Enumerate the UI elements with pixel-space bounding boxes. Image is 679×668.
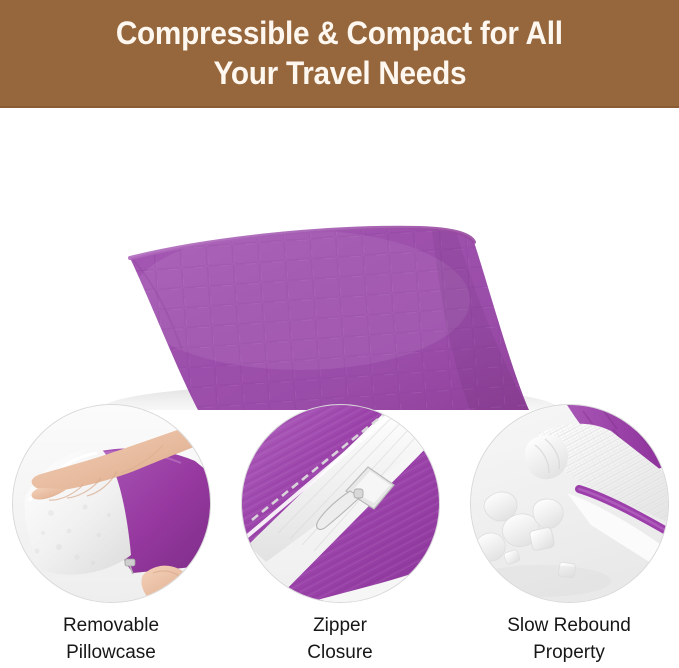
foam-tuft xyxy=(525,435,568,479)
lower-hand xyxy=(141,566,201,601)
feature-row: Removable Pillowcase xyxy=(0,404,679,668)
feature-caption-zipper-closure: Zipper Closure xyxy=(240,612,440,666)
feature-slow-rebound-property: Slow Rebound Property xyxy=(469,404,669,666)
feature-image-zipper-closure xyxy=(241,404,440,603)
banner-headline-line-1: Compressible & Compact for All xyxy=(116,13,563,53)
hero-product-image xyxy=(0,110,679,410)
banner-headline-line-2: Your Travel Needs xyxy=(213,53,466,93)
pillow-illustration xyxy=(0,110,679,410)
header-banner: Compressible & Compact for All Your Trav… xyxy=(0,0,679,108)
feature-zipper-closure: Zipper Closure xyxy=(240,404,440,666)
feature-caption-removable-pillowcase: Removable Pillowcase xyxy=(11,612,211,666)
feature-caption-slow-rebound: Slow Rebound Property xyxy=(469,612,669,666)
feature-image-removable-pillowcase xyxy=(12,404,211,603)
feature-removable-pillowcase: Removable Pillowcase xyxy=(11,404,211,666)
feature-image-slow-rebound xyxy=(470,404,669,603)
pillow-body xyxy=(120,220,550,410)
